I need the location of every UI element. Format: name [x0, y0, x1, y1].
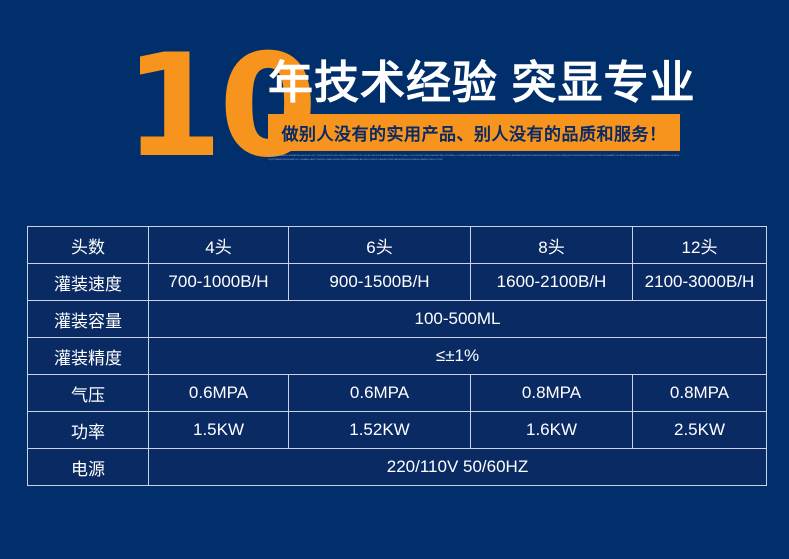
- row-cell: 2100-3000B/H: [633, 264, 767, 301]
- row-cell: 900-1500B/H: [289, 264, 471, 301]
- table-row: 头数4头6头8头12头: [28, 227, 767, 264]
- row-label: 功率: [28, 412, 149, 449]
- table-row: 灌装容量100-500ML: [28, 301, 767, 338]
- row-cell: 1.5KW: [149, 412, 289, 449]
- row-cell: 0.8MPA: [471, 375, 633, 412]
- table-row: 灌装速度700-1000B/H900-1500B/H1600-2100B/H21…: [28, 264, 767, 301]
- row-cell: 2.5KW: [633, 412, 767, 449]
- fineprint-text: DHJXDSDXCHASDF+BJEFAD8b1e4HSDX83+5CP_D6D…: [268, 154, 680, 162]
- row-cell: 12头: [633, 227, 767, 264]
- row-cell: 700-1000B/H: [149, 264, 289, 301]
- specification-table-body: 头数4头6头8头12头灌装速度700-1000B/H900-1500B/H160…: [28, 227, 767, 486]
- row-merged-value: 100-500ML: [149, 301, 767, 338]
- row-merged-value: ≤±1%: [149, 338, 767, 375]
- row-label: 灌装精度: [28, 338, 149, 375]
- row-cell: 0.6MPA: [149, 375, 289, 412]
- row-cell: 8头: [471, 227, 633, 264]
- specification-table: 头数4头6头8头12头灌装速度700-1000B/H900-1500B/H160…: [27, 226, 767, 486]
- table-row: 气压0.6MPA0.6MPA0.8MPA0.8MPA: [28, 375, 767, 412]
- row-cell: 0.8MPA: [633, 375, 767, 412]
- row-merged-value: 220/110V 50/60HZ: [149, 449, 767, 486]
- row-label: 电源: [28, 449, 149, 486]
- row-cell: 1600-2100B/H: [471, 264, 633, 301]
- row-label: 灌装容量: [28, 301, 149, 338]
- row-label: 气压: [28, 375, 149, 412]
- headline-text: 年技术经验 突显专业: [268, 57, 696, 109]
- table-row: 灌装精度≤±1%: [28, 338, 767, 375]
- row-cell: 6头: [289, 227, 471, 264]
- row-label: 头数: [28, 227, 149, 264]
- row-cell: 1.52KW: [289, 412, 471, 449]
- promo-header: 10 年技术经验 突显专业 做别人没有的实用产品、别人没有的品质和服务！ DHJ…: [0, 0, 789, 200]
- row-label: 灌装速度: [28, 264, 149, 301]
- slogan-banner: 做别人没有的实用产品、别人没有的品质和服务！: [268, 114, 680, 151]
- table-row: 功率1.5KW1.52KW1.6KW2.5KW: [28, 412, 767, 449]
- slogan-text: 做别人没有的实用产品、别人没有的品质和服务！: [282, 120, 667, 145]
- row-cell: 4头: [149, 227, 289, 264]
- table-row: 电源220/110V 50/60HZ: [28, 449, 767, 486]
- row-cell: 0.6MPA: [289, 375, 471, 412]
- row-cell: 1.6KW: [471, 412, 633, 449]
